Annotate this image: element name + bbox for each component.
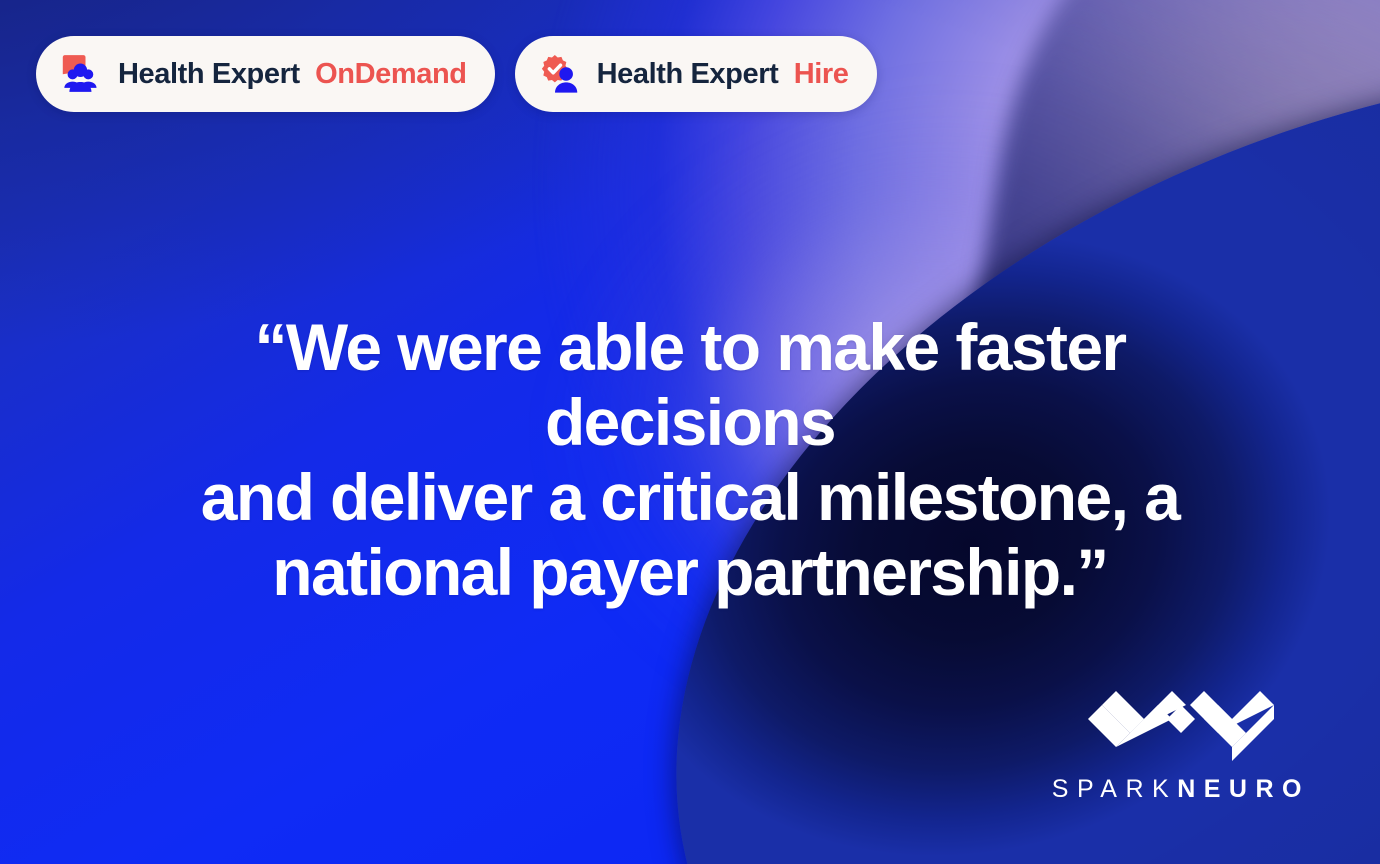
quote-line: “We were able to make faster decisions: [110, 310, 1270, 460]
promo-card: Health Expert OnDemand Health Expert Hir…: [0, 0, 1380, 864]
badge-health-expert-ondemand[interactable]: Health Expert OnDemand: [36, 36, 495, 112]
badge-label: Health Expert OnDemand: [118, 60, 467, 89]
sparkneuro-wordmark: SPARK NEURO: [1052, 777, 1310, 802]
testimonial-quote: “We were able to make faster decisions a…: [0, 310, 1380, 610]
badge-label-accent: OnDemand: [315, 58, 467, 90]
wordmark-neuro: NEURO: [1177, 777, 1310, 802]
sparkneuro-chevron-mark: [1088, 681, 1274, 763]
quote-line: and deliver a critical milestone, a: [110, 460, 1270, 535]
badge-label-accent: Hire: [794, 58, 849, 90]
sparkneuro-logo: SPARK NEURO: [1052, 681, 1310, 802]
badge-label: Health Expert Hire: [597, 60, 849, 89]
badge-label-primary: Health Expert: [118, 58, 300, 90]
people-group-icon: [58, 51, 104, 97]
badge-health-expert-hire[interactable]: Health Expert Hire: [515, 36, 877, 112]
badge-label-primary: Health Expert: [597, 58, 779, 90]
verified-badge-person-icon: [537, 51, 583, 97]
wordmark-spark: SPARK: [1052, 777, 1177, 802]
badge-row: Health Expert OnDemand Health Expert Hir…: [36, 36, 877, 112]
quote-line: national payer partnership.”: [110, 535, 1270, 610]
